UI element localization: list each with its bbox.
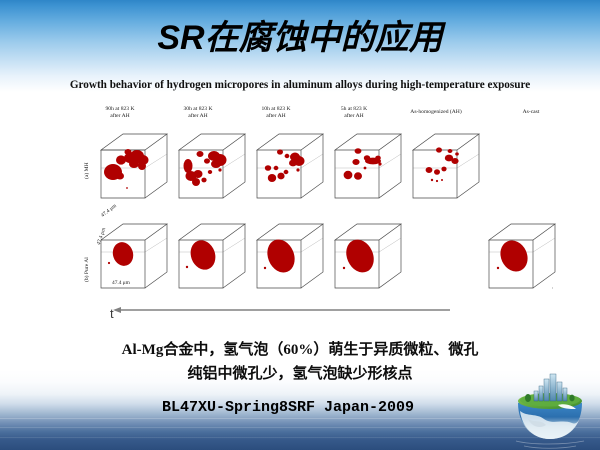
tomography-figure: 90h at 823 K after AH 30h at 823 K after…	[78, 104, 578, 319]
row-label-pure-al: (b) Pure Al	[84, 257, 90, 282]
column-header-line2: after AH	[160, 113, 236, 120]
axis-label-depth: 47.4 μm	[100, 203, 118, 219]
tomography-cube-mh-3	[332, 128, 404, 204]
tomography-cube-pureal-5: '	[486, 218, 558, 298]
column-header-line2: after AH	[316, 113, 392, 120]
column-header-5: As-cast	[496, 109, 566, 116]
column-header-line2: after AH	[238, 113, 314, 120]
axis-label-width: 47.4 μm	[112, 280, 130, 286]
column-header-1: 30h at 823 K after AH	[160, 106, 236, 120]
tomography-cube-mh-1	[176, 128, 248, 204]
globe-logo-icon	[502, 373, 598, 449]
column-header-2: 10h at 823 K after AH	[238, 106, 314, 120]
column-header-line1: As-homogenized (AH)	[390, 109, 482, 116]
column-header-4: As-homogenized (AH)	[390, 109, 482, 116]
column-header-3: 5h at 823 K after AH	[316, 106, 392, 120]
tomography-cube-pureal-1	[176, 218, 248, 298]
tomography-cube-mh-2	[254, 128, 326, 204]
tomography-cube-pureal-3	[332, 218, 404, 298]
row-label-mh: (a) MH	[84, 162, 90, 179]
tomography-cube-pureal-0: 47.4 μm 47.4 μm 47.4 μm	[98, 218, 170, 298]
slide-canvas: SR在腐蚀中的应用 Growth behavior of hydrogen mi…	[0, 0, 600, 450]
column-header-0: 90h at 823 K after AH	[82, 106, 158, 120]
time-axis-arrow	[112, 303, 452, 317]
slide-subtitle: Growth behavior of hydrogen micropores i…	[0, 78, 600, 92]
tomography-cube-mh-4	[410, 128, 482, 204]
column-header-line1: As-cast	[496, 109, 566, 116]
conclusion-line-1: Al-Mg合金中，氢气泡（60%）萌生于异质微粒、微孔	[122, 342, 479, 358]
slide-title: SR在腐蚀中的应用	[0, 18, 600, 58]
column-header-line2: after AH	[82, 113, 158, 120]
figure-corner-mark: '	[552, 288, 553, 293]
tomography-cube-pureal-2	[254, 218, 326, 298]
tomography-cube-mh-0	[98, 128, 170, 204]
